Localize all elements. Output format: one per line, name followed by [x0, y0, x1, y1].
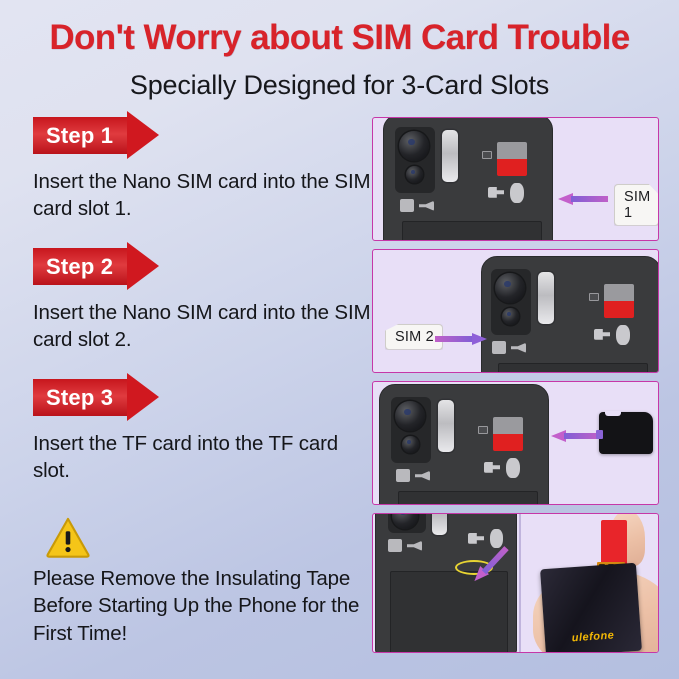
phone-back-illustration-3 [379, 384, 549, 505]
warning-text: Please Remove the Insulating Tape Before… [33, 565, 372, 647]
camera-lens-secondary [406, 166, 423, 183]
panel-divider [519, 514, 521, 652]
step-text-3: Insert the TF card into the TF card slot… [33, 430, 372, 485]
step-banner-1: Step 1 [33, 117, 127, 154]
step-banner-2: Step 2 [33, 248, 127, 285]
illustration-panel-tf [372, 381, 659, 505]
sim-card-graphic [497, 142, 527, 176]
illustration-panel-battery: ulefone [372, 513, 659, 653]
step-block-3: Step 3 Insert the TF card into the TF ca… [33, 379, 372, 510]
tray-pin-2 [616, 325, 630, 345]
tray-pin-1 [468, 533, 484, 544]
warning-triangle-icon [45, 516, 91, 558]
warning-block: Please Remove the Insulating Tape Before… [33, 516, 372, 647]
camera-flash-strip [538, 272, 554, 324]
sim-slot-notch [482, 151, 492, 159]
instructions-column: Step 1 Insert the Nano SIM card into the… [0, 117, 372, 661]
phone-back-illustration-2 [481, 256, 659, 373]
camera-lens-secondary [402, 436, 419, 453]
speaker-grille [396, 469, 410, 482]
camera-lens-main [395, 401, 425, 431]
tray-pin-2 [506, 458, 520, 478]
step-text-1: Insert the Nano SIM card into the SIM ca… [33, 168, 372, 223]
speaker-grille-2 [419, 201, 434, 211]
camera-lens-main [399, 131, 429, 161]
illustrations-column: SIM 1 SIM 2 [372, 117, 679, 661]
speaker-grille [400, 199, 414, 212]
step-block-1: Step 1 Insert the Nano SIM card into the… [33, 117, 372, 248]
speaker-grille-2 [407, 541, 422, 551]
tray-pin-1 [594, 329, 610, 340]
battery-brand-logo: ulefone [571, 629, 614, 644]
speaker-grille [492, 341, 506, 354]
page-title: Don't Worry about SIM Card Trouble [0, 20, 679, 57]
speaker-grille [388, 539, 402, 552]
phone-back-illustration-1 [383, 117, 553, 241]
insert-arrow-sim2 [435, 333, 487, 346]
tf-slot-notch [478, 426, 488, 434]
battery-compartment [498, 363, 648, 373]
step-banner-3: Step 3 [33, 379, 127, 416]
tray-pin-1 [484, 462, 500, 473]
tf-card-graphic [599, 412, 653, 454]
camera-lens-secondary [502, 308, 519, 325]
tray-pin-2 [510, 183, 524, 203]
camera-flash-strip [442, 130, 458, 182]
speaker-grille-2 [511, 343, 526, 353]
insert-arrow-sim1 [558, 193, 608, 206]
battery-compartment [390, 571, 508, 653]
sim-slot-notch [589, 293, 599, 301]
page-header: Don't Worry about SIM Card Trouble Speci… [0, 0, 679, 101]
content-area: Step 1 Insert the Nano SIM card into the… [0, 117, 679, 661]
camera-lens-main [495, 273, 525, 303]
illustration-panel-sim2: SIM 2 [372, 249, 659, 373]
battery-compartment [402, 221, 542, 241]
step-block-2: Step 2 Insert the Nano SIM card into the… [33, 248, 372, 379]
camera-flash-strip [432, 513, 447, 535]
battery-compartment [398, 491, 538, 505]
sim-card-graphic [604, 284, 634, 318]
illustration-panel-sim1: SIM 1 [372, 117, 659, 241]
insert-arrow-tf [551, 430, 599, 443]
callout-label-sim1: SIM 1 [614, 184, 659, 226]
battery-illustration: ulefone [540, 563, 642, 653]
camera-flash-strip [438, 400, 454, 452]
tray-pin-1 [488, 187, 504, 198]
tf-slot-graphic [493, 417, 523, 451]
page-subtitle: Specially Designed for 3-Card Slots [0, 70, 679, 101]
speaker-grille-2 [415, 471, 430, 481]
step-text-2: Insert the Nano SIM card into the SIM ca… [33, 299, 372, 354]
phone-back-illustration-4 [375, 513, 517, 653]
insulating-tape [601, 520, 627, 564]
